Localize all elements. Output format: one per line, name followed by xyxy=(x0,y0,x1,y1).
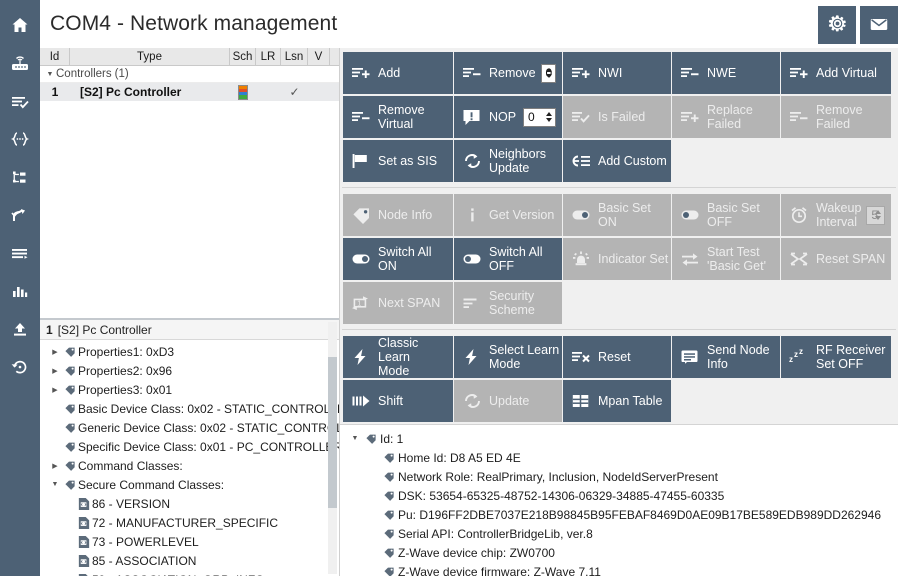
message-icon xyxy=(680,348,702,366)
stepper-value: 0 xyxy=(528,110,535,124)
tag-icon xyxy=(62,421,78,434)
set-as-sis-button[interactable]: Set as SIS xyxy=(343,140,453,182)
sidebar-item-firmware-update[interactable] xyxy=(0,310,40,348)
tree-item[interactable]: Generic Device Class: 0x02 - STATIC_CONT… xyxy=(40,418,339,437)
detail-item-label: Pu: D196FF2DBE7037E218B98845B95FEBAF8469… xyxy=(398,508,881,522)
replace-failed-button: Replace Failed xyxy=(672,96,780,138)
stepper-arrows[interactable] xyxy=(543,65,554,82)
refresh-icon xyxy=(462,392,484,410)
button-label: Classic Learn Mode xyxy=(378,336,453,378)
detail-item-label: Home Id: D8 A5 ED 4E xyxy=(398,451,521,465)
column-header-type[interactable]: Type xyxy=(70,48,230,66)
button-row: ShiftUpdateMpan Table xyxy=(343,380,895,424)
tag-icon xyxy=(62,478,78,491)
flag-icon xyxy=(351,152,373,170)
sleep-icon: zzz xyxy=(789,348,811,366)
list-minus-icon xyxy=(351,108,373,126)
shuffle-icon xyxy=(789,250,811,268)
tree-item-label: Basic Device Class: 0x02 - STATIC_CONTRO… xyxy=(78,402,339,416)
select-learn-mode-button[interactable]: Select Learn Mode xyxy=(454,336,562,378)
chevron-right-icon[interactable]: ▶ xyxy=(48,348,62,356)
nop-button[interactable]: NOP0 xyxy=(454,96,562,138)
history-icon xyxy=(9,357,31,377)
chevron-down-icon[interactable]: ▼ xyxy=(348,435,362,442)
tree-item[interactable]: Specific Device Class: 0x01 - PC_CONTROL… xyxy=(40,437,339,456)
tree-item-label: Properties2: 0x96 xyxy=(78,364,172,378)
stepper-arrows[interactable] xyxy=(872,207,883,224)
controller-info-tree: ▼Id: 1Home Id: D8 A5 ED 4ENetwork Role: … xyxy=(340,424,898,576)
bar-chart-icon xyxy=(9,281,31,301)
button-label: Remove Failed xyxy=(816,103,891,131)
tag-icon xyxy=(62,402,78,415)
divider xyxy=(342,187,896,188)
stepper-arrows[interactable] xyxy=(543,109,554,126)
right-panel: AddRemove0NWINWEAdd VirtualRemove Virtua… xyxy=(340,48,898,576)
detail-item-label: Serial API: ControllerBridgeLib, ver.8 xyxy=(398,527,593,541)
node-table-header: Id Type Sch LR Lsn V xyxy=(40,48,339,66)
chevron-down-icon: ▼ xyxy=(44,71,56,78)
home-icon xyxy=(10,15,30,35)
sidebar-item-node-management[interactable] xyxy=(0,82,40,120)
file-code-icon xyxy=(76,497,92,511)
list-check-icon xyxy=(9,91,31,111)
chevron-down-icon[interactable]: ▼ xyxy=(48,481,62,488)
detail-item[interactable]: Serial API: ControllerBridgeLib, ver.8 xyxy=(344,524,898,543)
tag-icon xyxy=(380,527,398,540)
switch-all-off-button[interactable]: Switch All OFF xyxy=(454,238,562,280)
chevron-right-icon[interactable]: ▶ xyxy=(48,386,62,394)
button-label: Reset SPAN xyxy=(816,252,885,266)
tag-icon xyxy=(380,565,398,576)
tree-header-id: 1 xyxy=(46,323,53,337)
basic-set-on-button: Basic Set ON xyxy=(563,194,671,236)
list-minus-icon xyxy=(462,64,484,82)
detail-item[interactable]: Home Id: D8 A5 ED 4E xyxy=(344,448,898,467)
button-label: Is Failed xyxy=(598,110,645,124)
button-row: Switch All ONSwitch All OFFIndicator Set… xyxy=(343,238,895,282)
tag-icon xyxy=(62,364,78,377)
node-group-count: (1) xyxy=(115,68,129,80)
column-header-v[interactable]: V xyxy=(308,48,330,66)
tree-item-label: Command Classes: xyxy=(78,459,183,473)
tree-item-label: Specific Device Class: 0x01 - PC_CONTROL… xyxy=(78,440,339,454)
file-code-icon xyxy=(76,573,92,576)
list-check-icon xyxy=(571,108,593,126)
main-content: Id Type Sch LR Lsn V ▼ Controllers (1) xyxy=(40,48,898,576)
chevron-right-icon[interactable]: ▶ xyxy=(48,367,62,375)
sidebar-item-home[interactable] xyxy=(0,6,40,44)
tree-item[interactable]: Basic Device Class: 0x02 - STATIC_CONTRO… xyxy=(40,399,339,418)
tree-scrollbar[interactable] xyxy=(328,322,337,574)
security-scheme-button: Security Scheme xyxy=(454,282,562,324)
tree-item[interactable]: ▼Secure Command Classes: xyxy=(40,475,339,494)
mpan-table-button[interactable]: Mpan Table xyxy=(563,380,671,422)
button-label: Start Test 'Basic Get' xyxy=(707,245,766,273)
button-label: RF Receiver Set OFF xyxy=(816,343,885,371)
next-span-button: 1Next SPAN xyxy=(343,282,453,324)
tree-item[interactable]: ▶Properties3: 0x01 xyxy=(40,380,339,399)
messages-button[interactable] xyxy=(860,6,898,44)
page-title: COM4 - Network management xyxy=(40,12,337,36)
get-version-button: Get Version xyxy=(454,194,562,236)
tree-header-label: [S2] Pc Controller xyxy=(58,323,152,337)
tree-item-label: 72 - MANUFACTURER_SPECIFIC xyxy=(92,516,278,530)
tree-item-label: Properties1: 0xD3 xyxy=(78,345,174,359)
node-group-controllers[interactable]: ▼ Controllers (1) xyxy=(40,66,339,83)
node-info-button: Node Info xyxy=(343,194,453,236)
nwe-button[interactable]: NWE xyxy=(672,52,780,94)
cell-spacer xyxy=(330,83,339,101)
tree-item[interactable]: 72 - MANUFACTURER_SPECIFIC xyxy=(40,513,339,532)
toggle-off-icon xyxy=(462,250,484,268)
add-button[interactable]: Add xyxy=(343,52,453,94)
tag-icon xyxy=(62,459,78,472)
detail-item-label: Z-Wave device firmware: Z-Wave 7.11 xyxy=(398,565,601,576)
sidebar-item-command-classes[interactable] xyxy=(0,120,40,158)
network-buttons-group: AddRemove0NWINWEAdd VirtualRemove Virtua… xyxy=(340,48,898,184)
nwi-button[interactable]: NWI xyxy=(563,52,671,94)
tag-icon xyxy=(62,383,78,396)
svg-text:z: z xyxy=(799,348,803,356)
detail-item[interactable]: Z-Wave device firmware: Z-Wave 7.11 xyxy=(344,562,898,576)
remove-button[interactable]: Remove0 xyxy=(454,52,562,94)
value-stepper[interactable]: 0 xyxy=(523,108,556,127)
button-label: Send Node Info xyxy=(707,343,770,371)
tree-item[interactable]: 59 - ASSOCIATION_GRP_INFO xyxy=(40,570,339,576)
alarm-clock-icon xyxy=(789,206,811,224)
button-label: Get Version xyxy=(489,208,554,222)
tree-item[interactable]: 86 - VERSION xyxy=(40,494,339,513)
table-row[interactable]: 1 [S2] Pc Controller ✓ xyxy=(40,83,339,101)
sidebar-rail xyxy=(0,0,40,576)
button-label: Set as SIS xyxy=(378,154,437,168)
tree-item[interactable]: ▶Command Classes: xyxy=(40,456,339,475)
list-plus-icon xyxy=(351,64,373,82)
file-code-icon xyxy=(76,516,92,530)
classic-learn-mode-button[interactable]: Classic Learn Mode xyxy=(343,336,453,378)
send-node-info-button[interactable]: Send Node Info xyxy=(672,336,780,378)
button-label: NWI xyxy=(598,66,622,80)
basic-set-off-button: Basic Set OFF xyxy=(672,194,780,236)
sidebar-item-history[interactable] xyxy=(0,348,40,386)
detail-item-label: Z-Wave device chip: ZW0700 xyxy=(398,546,555,560)
left-panel: Id Type Sch LR Lsn V ▼ Controllers (1) xyxy=(40,48,340,576)
siren-icon xyxy=(571,250,593,268)
tree-item[interactable]: ▶Properties1: 0xD3 xyxy=(40,342,339,361)
button-label: Mpan Table xyxy=(598,394,662,408)
button-label: Replace Failed xyxy=(707,103,780,131)
switch-all-on-button[interactable]: Switch All ON xyxy=(343,238,453,280)
svg-text:z: z xyxy=(794,350,798,359)
button-row: Remove VirtualNOP0Is FailedReplace Faile… xyxy=(343,96,895,140)
node-command-buttons-group: Node InfoGet VersionBasic Set ONBasic Se… xyxy=(340,190,898,326)
custom-list-icon xyxy=(571,152,593,170)
tree-item[interactable]: ▶Properties2: 0x96 xyxy=(40,361,339,380)
button-row: AddRemove0NWINWEAdd Virtual xyxy=(343,52,895,96)
add-custom-button[interactable]: Add Custom xyxy=(563,140,671,182)
add-virtual-button[interactable]: Add Virtual xyxy=(781,52,891,94)
button-label: Security Scheme xyxy=(489,289,535,317)
column-header-id[interactable]: Id xyxy=(40,48,70,66)
tree-icon xyxy=(9,167,31,187)
file-code-icon xyxy=(76,535,92,549)
tree-header: 1 [S2] Pc Controller xyxy=(40,320,339,340)
exchange-icon xyxy=(680,250,702,268)
tag-icon xyxy=(351,206,373,224)
chevron-right-icon[interactable]: ▶ xyxy=(48,462,62,470)
route-icon xyxy=(9,205,31,225)
tree-body: ▶Properties1: 0xD3▶Properties2: 0x96▶Pro… xyxy=(40,340,339,576)
button-label: Remove Virtual xyxy=(378,103,425,131)
gear-icon xyxy=(827,13,848,37)
security-scheme-bars-icon xyxy=(238,85,248,100)
tag-icon xyxy=(62,440,78,453)
button-row: Classic Learn ModeSelect Learn ModeReset… xyxy=(343,336,895,380)
toggle-on-icon xyxy=(351,250,373,268)
upload-icon xyxy=(9,319,31,339)
mail-icon xyxy=(868,13,890,38)
detail-item-label: Id: 1 xyxy=(380,432,403,446)
tree-item[interactable]: 85 - ASSOCIATION xyxy=(40,551,339,570)
table-icon xyxy=(571,392,593,410)
sidebar-item-queue[interactable] xyxy=(0,234,40,272)
tree-item-label: Generic Device Class: 0x02 - STATIC_CONT… xyxy=(78,421,339,435)
indicator-set-button: Indicator Set xyxy=(563,238,671,280)
reset-button[interactable]: Reset xyxy=(563,336,671,378)
shift-button[interactable]: Shift xyxy=(343,380,453,422)
divider xyxy=(342,329,896,330)
detail-item-label: DSK: 53654-65325-48752-14306-06329-34885… xyxy=(398,489,724,503)
settings-button[interactable] xyxy=(818,6,856,44)
button-label: Indicator Set xyxy=(598,252,668,266)
button-label: Add Virtual xyxy=(816,66,877,80)
button-label: Shift xyxy=(378,394,403,408)
list-minus-icon xyxy=(680,64,702,82)
cell-type: [S2] Pc Controller xyxy=(70,83,230,101)
toggle-off-icon xyxy=(680,206,702,224)
value-stepper[interactable]: 0 xyxy=(541,64,556,83)
cell-lsn: ✓ xyxy=(281,83,308,101)
button-label: NWE xyxy=(707,66,736,80)
shift-icon xyxy=(351,392,373,410)
button-label: Switch All ON xyxy=(378,245,453,273)
controller-buttons-group: Classic Learn ModeSelect Learn ModeReset… xyxy=(340,332,898,424)
reset-span-button: Reset SPAN xyxy=(781,238,891,280)
list-plus-icon xyxy=(680,108,702,126)
detail-item[interactable]: Network Role: RealPrimary, Inclusion, No… xyxy=(344,467,898,486)
list-minus-icon xyxy=(789,108,811,126)
sidebar-item-network[interactable] xyxy=(0,44,40,82)
column-header-lsn[interactable]: Lsn xyxy=(281,48,308,66)
button-label: Basic Set ON xyxy=(598,201,671,229)
node-detail-tree: 1 [S2] Pc Controller ▶Properties1: 0xD3▶… xyxy=(40,320,339,576)
tag-icon xyxy=(380,508,398,521)
button-label: Add xyxy=(378,66,400,80)
button-label: Select Learn Mode xyxy=(489,343,559,371)
button-label: Basic Set OFF xyxy=(707,201,780,229)
app-header: COM4 - Network management xyxy=(40,0,898,48)
tree-item-label: Secure Command Classes: xyxy=(78,478,224,492)
start-test-basic-get-button: Start Test 'Basic Get' xyxy=(672,238,780,280)
svg-text:1: 1 xyxy=(357,300,361,307)
button-label: Next SPAN xyxy=(378,296,440,310)
next-span-icon: 1 xyxy=(351,294,373,312)
cell-v xyxy=(308,83,330,101)
remove-failed-button: Remove Failed xyxy=(781,96,891,138)
cell-id: 1 xyxy=(40,83,70,101)
button-label: Switch All OFF xyxy=(489,245,562,273)
queue-icon xyxy=(9,243,31,263)
file-code-icon xyxy=(76,554,92,568)
update-button: Update xyxy=(454,380,562,422)
node-table: Id Type Sch LR Lsn V ▼ Controllers (1) xyxy=(40,48,339,320)
list-plus-icon xyxy=(789,64,811,82)
tag-icon xyxy=(62,345,78,358)
tree-item-label: Properties3: 0x01 xyxy=(78,383,172,397)
tag-icon xyxy=(380,489,398,502)
tree-item-label: 86 - VERSION xyxy=(92,497,170,511)
button-label: NOP xyxy=(489,110,516,124)
tag-icon xyxy=(362,432,380,445)
button-row: Set as SISNeighbors UpdateAdd Custom xyxy=(343,140,895,184)
sidebar-item-topology[interactable] xyxy=(0,158,40,196)
rf-receiver-set-off-button[interactable]: zzzRF Receiver Set OFF xyxy=(781,336,891,378)
svg-text:z: z xyxy=(789,355,793,364)
neighbors-update-button[interactable]: Neighbors Update xyxy=(454,140,562,182)
button-label: Neighbors Update xyxy=(489,147,546,175)
remove-virtual-button[interactable]: Remove Virtual xyxy=(343,96,453,138)
value-stepper: 5 xyxy=(866,206,885,225)
node-group-label: Controllers xyxy=(56,68,112,80)
alert-bubble-icon xyxy=(462,108,484,126)
is-failed-button: Is Failed xyxy=(563,96,671,138)
toggle-on-icon xyxy=(571,206,593,224)
button-label: Update xyxy=(489,394,529,408)
wakeup-interval-button: Wakeup Interval5 xyxy=(781,194,891,236)
tree-item-label: 85 - ASSOCIATION xyxy=(92,554,196,568)
button-label: Remove xyxy=(489,66,536,80)
tag-icon xyxy=(380,451,398,464)
tree-item-label: 59 - ASSOCIATION_GRP_INFO xyxy=(92,573,265,576)
detail-item[interactable]: ▼Id: 1 xyxy=(344,429,898,448)
cell-sch xyxy=(230,83,256,101)
detail-item[interactable]: Pu: D196FF2DBE7037E218B98845B95FEBAF8469… xyxy=(344,505,898,524)
sidebar-item-routing[interactable] xyxy=(0,196,40,234)
bolt-icon xyxy=(462,348,484,366)
tree-item[interactable]: 73 - POWERLEVEL xyxy=(40,532,339,551)
tree-item-label: 73 - POWERLEVEL xyxy=(92,535,199,549)
cell-lr xyxy=(256,83,281,101)
tree-scrollbar-thumb[interactable] xyxy=(328,357,337,508)
column-header-lr[interactable]: LR xyxy=(256,48,281,66)
detail-item-label: Network Role: RealPrimary, Inclusion, No… xyxy=(398,470,718,484)
info-icon xyxy=(462,206,484,224)
sidebar-item-statistics[interactable] xyxy=(0,272,40,310)
button-row: 1Next SPANSecurity Scheme xyxy=(343,282,895,326)
button-label: Add Custom xyxy=(598,154,667,168)
header-actions xyxy=(818,6,898,44)
button-label: Node Info xyxy=(378,208,432,222)
list-x-icon xyxy=(571,348,593,366)
braces-icon xyxy=(9,129,31,149)
lines-icon xyxy=(462,294,484,312)
button-row: Node InfoGet VersionBasic Set ONBasic Se… xyxy=(343,194,895,238)
refresh-icon xyxy=(462,152,484,170)
column-header-spacer xyxy=(330,48,339,66)
button-label: Wakeup Interval xyxy=(816,201,861,229)
detail-item[interactable]: DSK: 53654-65325-48752-14306-06329-34885… xyxy=(344,486,898,505)
column-header-sch[interactable]: Sch xyxy=(230,48,256,66)
tag-icon xyxy=(380,470,398,483)
router-icon xyxy=(9,53,31,73)
detail-item[interactable]: Z-Wave device chip: ZW0700 xyxy=(344,543,898,562)
tag-icon xyxy=(380,546,398,559)
list-plus-icon xyxy=(571,64,593,82)
button-label: Reset xyxy=(598,350,631,364)
bolt-icon xyxy=(351,348,373,366)
